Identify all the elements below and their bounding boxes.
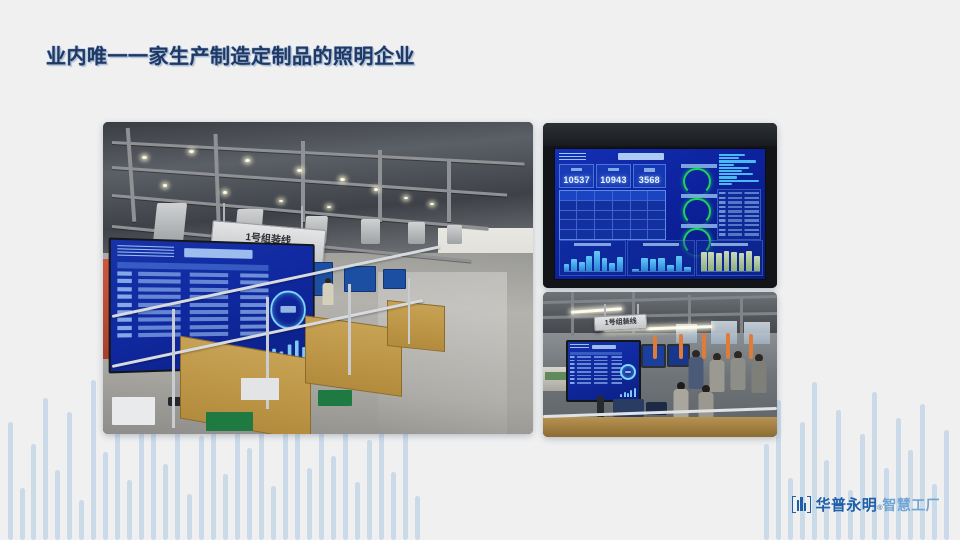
dashboard-logo	[570, 344, 588, 349]
matrix-cell	[613, 230, 630, 239]
decor-bar	[331, 456, 336, 540]
table-row	[719, 192, 759, 194]
ranking-bar	[719, 164, 734, 166]
matrix-cell	[631, 220, 648, 229]
chart-bars	[564, 249, 623, 271]
rail-post	[408, 278, 410, 344]
roof-column	[740, 296, 743, 332]
kpi-card-completed: 10943	[596, 164, 632, 188]
decor-bar	[79, 500, 84, 540]
brand-name: 华普永明	[816, 494, 878, 515]
factory-worker	[751, 354, 767, 393]
decor-bar	[836, 410, 841, 540]
matrix-cell	[560, 201, 577, 210]
matrix-cell	[560, 230, 577, 239]
chart-bar	[571, 259, 577, 271]
kpi-label	[608, 168, 619, 172]
page-title: 业内唯一一家生产制造定制品的照明企业	[46, 40, 415, 69]
dashboard-gauge	[620, 364, 636, 380]
decor-bar	[283, 432, 288, 540]
chart-axis	[701, 271, 760, 272]
photo-workers-at-assembly-line: 1号组装线	[543, 292, 777, 437]
overhead-sign-assembly-line-1: 1号组装线	[594, 314, 648, 332]
dashboard-title-bar	[184, 248, 253, 259]
rail-post	[348, 284, 351, 374]
dashboard-table-body	[117, 271, 268, 342]
slide-canvas: 业内唯一一家生产制造定制品的照明企业	[0, 0, 960, 540]
matrix-cell	[595, 191, 612, 200]
decor-bar	[319, 424, 324, 540]
matrix-cell	[648, 230, 665, 239]
ranking-bar	[719, 180, 759, 182]
brand-logo: 华普永明 ® 智慧工厂	[792, 494, 940, 515]
matrix-cell	[595, 201, 612, 210]
roof-column	[378, 150, 382, 222]
chart-daily-output	[559, 240, 626, 276]
chart-bars	[701, 249, 760, 271]
chart-utilization	[696, 240, 763, 276]
chart-bar	[724, 251, 730, 271]
ranking-bar	[719, 173, 753, 175]
ceiling-lamp	[340, 178, 345, 181]
decor-bar	[812, 382, 817, 540]
matrix-cell	[613, 220, 630, 229]
kpi-value: 3568	[639, 175, 660, 185]
decor-bar	[403, 416, 408, 540]
suspended-tool-arm	[679, 334, 683, 359]
decor-bar	[247, 448, 252, 540]
decor-bar	[920, 404, 925, 540]
decor-bar	[235, 420, 240, 540]
workorder-ranking-chart	[719, 154, 761, 185]
chart-bar	[602, 258, 608, 271]
decor-bar	[367, 440, 372, 540]
matrix-cell	[577, 211, 594, 220]
ceiling-lamp	[404, 197, 408, 199]
decor-bar	[163, 464, 168, 540]
suspended-tool-arm	[653, 336, 657, 359]
ranking-bar	[719, 167, 749, 169]
kpi-card-plan: 10537	[559, 164, 595, 188]
decor-bar	[139, 428, 144, 540]
decor-bar	[896, 418, 901, 540]
table-row	[719, 197, 759, 199]
dashboard-detail-table	[717, 189, 761, 240]
ventilation-duct	[152, 203, 186, 244]
kpi-label	[571, 168, 582, 172]
matrix-cell	[613, 191, 630, 200]
chart-bar	[754, 256, 760, 271]
decor-bar	[764, 444, 769, 540]
decor-bar	[860, 434, 865, 540]
table-row	[719, 229, 759, 231]
sign-rod	[604, 304, 606, 317]
ceiling-behind-monitor	[543, 123, 777, 146]
production-dashboard-monitor	[566, 340, 640, 402]
kpi-value: 10537	[563, 175, 590, 185]
chart-bar	[676, 256, 683, 272]
ventilation-duct	[447, 225, 462, 244]
roof-column	[447, 159, 451, 221]
dashboard-logo	[117, 245, 173, 258]
ventilation-duct	[408, 222, 425, 244]
kpi-value: 10943	[600, 175, 627, 185]
matrix-cell	[595, 230, 612, 239]
matrix-cell	[648, 220, 665, 229]
decor-bar	[67, 412, 72, 540]
decor-bar	[8, 422, 13, 540]
decor-bar	[187, 494, 192, 540]
table-row	[719, 233, 759, 235]
dashboard-status-matrix	[559, 190, 666, 239]
decor-bar	[127, 480, 132, 540]
decor-bar	[43, 398, 48, 540]
decor-bar	[391, 472, 396, 540]
ceiling-lamp	[374, 188, 378, 191]
matrix-cell	[595, 211, 612, 220]
chart-defects	[627, 240, 694, 276]
chart-bar	[617, 257, 623, 271]
green-parts-tray	[318, 390, 352, 406]
factory-worker	[730, 351, 746, 392]
chart-bars	[632, 249, 691, 271]
gauge-weekly-completion	[683, 198, 710, 225]
chart-bar	[731, 252, 737, 271]
dashboard-gauge	[270, 290, 306, 328]
decor-bar	[271, 486, 276, 540]
cardboard-box	[241, 378, 280, 400]
ranking-bar	[719, 157, 739, 159]
ranking-bar	[719, 154, 745, 156]
dashboard-table-header	[117, 262, 268, 271]
blue-equipment-cabinet	[383, 269, 407, 290]
chart-title-bar	[643, 243, 680, 246]
matrix-cell	[631, 230, 648, 239]
chart-bar	[641, 258, 648, 271]
table-row	[719, 210, 759, 212]
decor-bar	[20, 488, 25, 540]
chart-bar	[658, 258, 665, 271]
matrix-cell	[560, 220, 577, 229]
sign-label-cn: 1号组装线	[605, 318, 637, 327]
photo-factory-assembly-line-overview: 1号组装线 Assembly line 1	[103, 122, 533, 434]
factory-worker	[322, 278, 333, 302]
matrix-cell	[613, 201, 630, 210]
decor-bar	[944, 430, 949, 540]
decor-bar	[800, 422, 805, 540]
matrix-cell	[648, 211, 665, 220]
ranking-bar	[719, 160, 756, 162]
dashboard-table-header	[570, 352, 621, 355]
decor-bar	[307, 468, 312, 540]
kpi-card-wip: 3568	[633, 164, 667, 188]
foreground-barrier	[543, 417, 777, 437]
decor-bar	[55, 470, 60, 540]
chart-bar	[746, 251, 752, 271]
chart-title-bar	[711, 243, 748, 246]
decor-bar	[355, 482, 360, 540]
ceiling-lamp	[223, 191, 227, 194]
ranking-bar	[719, 183, 732, 185]
photo-production-dashboard-closeup: 10537 10943 3568	[543, 123, 777, 288]
ranking-bar	[719, 176, 737, 178]
stacked-boxes	[112, 397, 155, 425]
chart-bar	[594, 251, 600, 271]
matrix-cell	[631, 211, 648, 220]
kpi-label	[644, 168, 655, 172]
matrix-cell	[577, 201, 594, 210]
dashboard-logo	[559, 153, 586, 161]
chart-bar	[586, 256, 592, 271]
chart-bar	[739, 253, 745, 271]
matrix-cell	[577, 220, 594, 229]
matrix-cell	[613, 211, 630, 220]
chart-bar	[708, 252, 714, 271]
rail-post	[172, 309, 175, 428]
matrix-cell	[560, 211, 577, 220]
matrix-cell	[648, 201, 665, 210]
ventilation-duct	[361, 219, 380, 244]
workshop-window	[711, 321, 737, 344]
table-row	[719, 206, 759, 208]
chart-bar	[650, 259, 657, 272]
table-row	[719, 219, 759, 221]
table-row	[719, 201, 759, 203]
matrix-cell	[648, 191, 665, 200]
decor-bar	[872, 392, 877, 540]
matrix-cell	[631, 191, 648, 200]
decor-bar	[103, 452, 108, 540]
chart-axis	[564, 271, 623, 272]
factory-worker-seated	[697, 385, 715, 419]
chart-bar	[716, 253, 722, 272]
decor-bar	[415, 496, 420, 540]
table-row	[719, 224, 759, 226]
chart-axis	[632, 271, 691, 272]
dashboard-screen: 10537 10943 3568	[554, 148, 767, 280]
ceiling-lamp	[297, 169, 302, 172]
gauge-daily-completion	[683, 168, 710, 195]
suspended-tool-arm	[726, 333, 730, 359]
matrix-cell	[577, 191, 594, 200]
decor-bar	[223, 474, 228, 540]
chart-bar	[701, 252, 707, 271]
bracket-bars-icon	[792, 496, 811, 513]
matrix-cell	[595, 220, 612, 229]
chart-title-bar	[574, 243, 611, 246]
ranking-bar	[719, 170, 742, 172]
matrix-cell	[577, 230, 594, 239]
matrix-cell	[560, 191, 577, 200]
decor-bar	[91, 380, 96, 540]
decor-bar	[199, 436, 204, 540]
matrix-cell	[631, 201, 648, 210]
dashboard-table-body	[570, 356, 621, 387]
dashboard-title-bar	[592, 345, 616, 349]
dashboard-title-bar	[618, 153, 664, 161]
decor-bar	[31, 444, 36, 540]
dashboard-bar-chart	[620, 388, 635, 397]
ceiling-lamp	[430, 203, 434, 205]
table-row	[719, 215, 759, 217]
brand-suffix: 智慧工厂	[882, 495, 940, 515]
chart-bar	[579, 262, 585, 272]
green-parts-tray	[206, 412, 253, 431]
